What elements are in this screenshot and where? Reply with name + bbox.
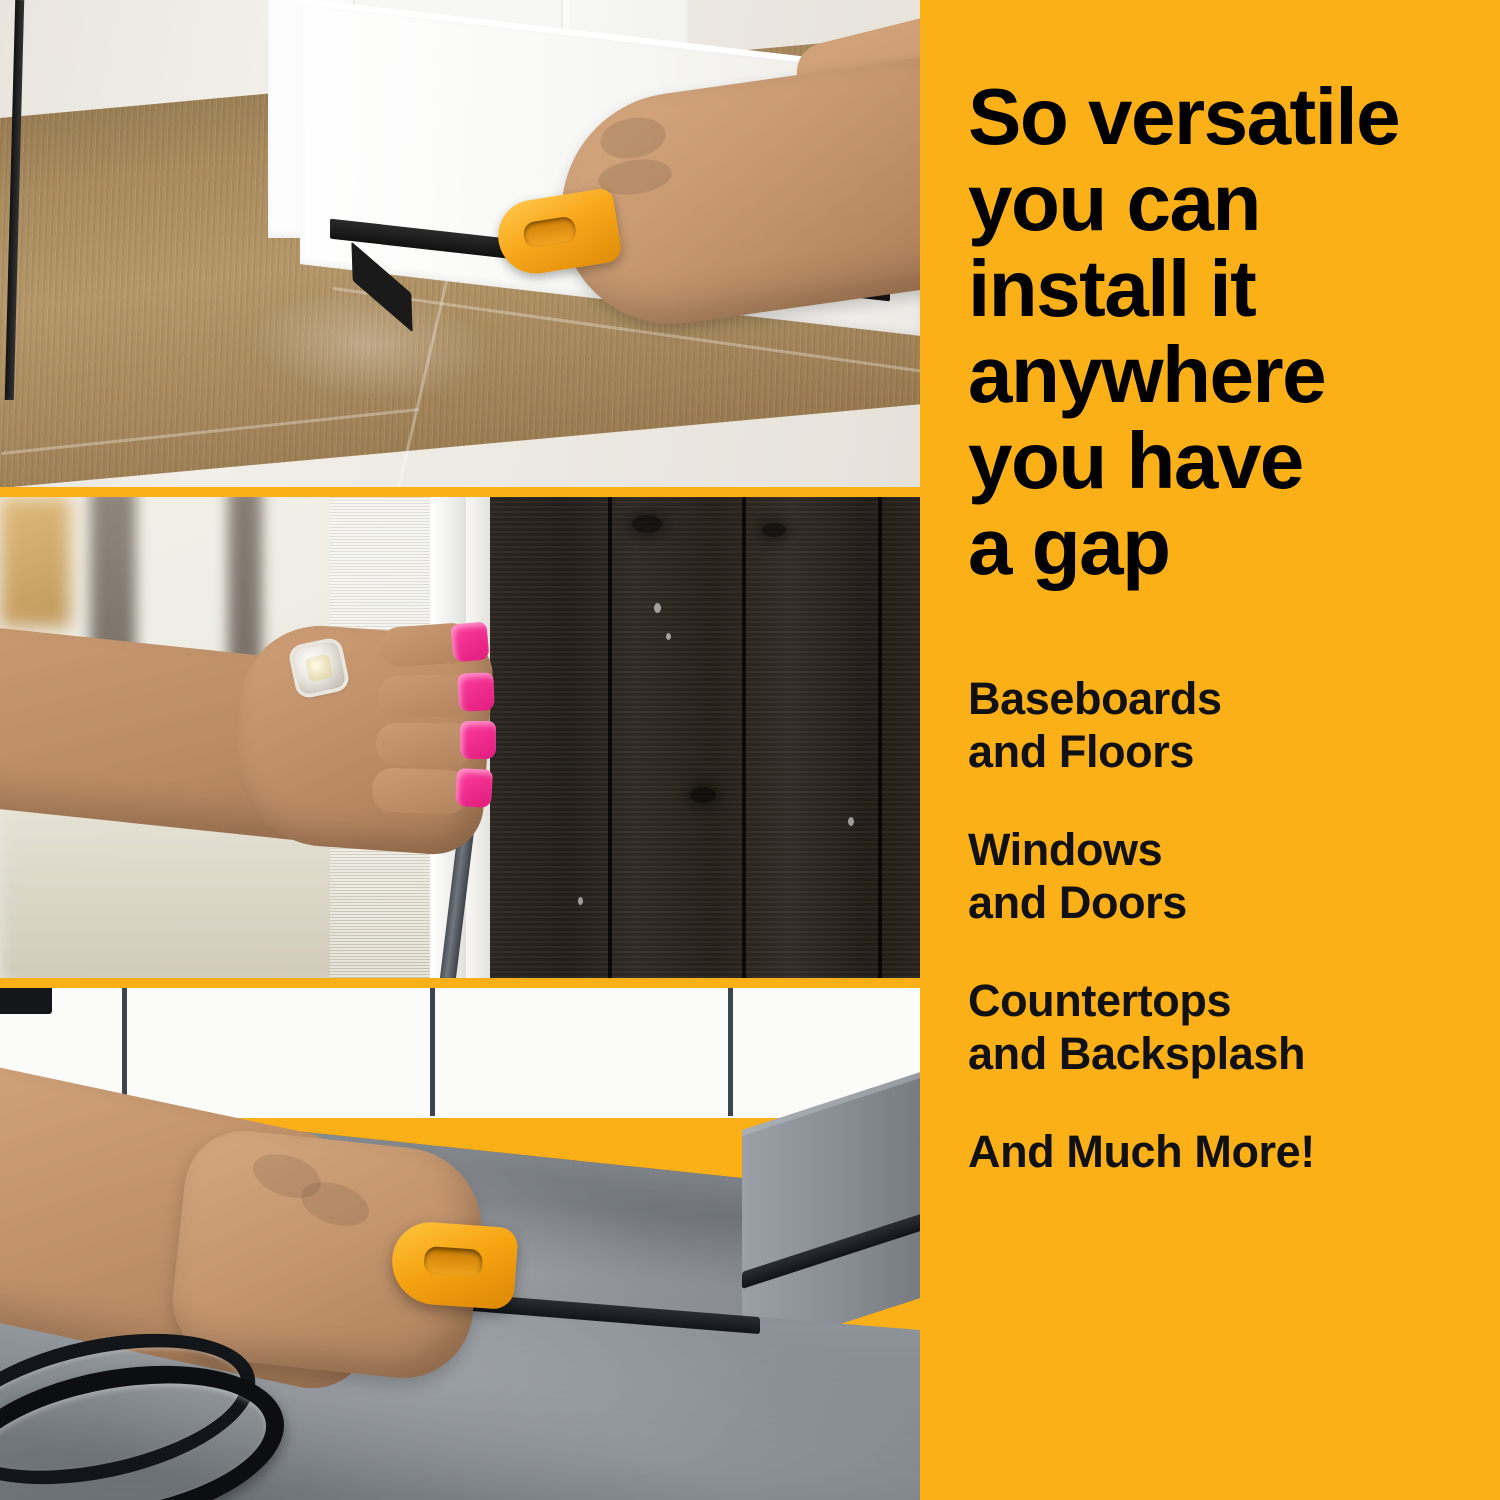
dark-wood-siding bbox=[490, 497, 920, 978]
benefit-item-baseboards-and-floors: Baseboards and Floors bbox=[968, 672, 1488, 778]
tile-grout-line bbox=[430, 988, 435, 1116]
tile-grout-line bbox=[728, 988, 733, 1116]
plank-seam bbox=[742, 497, 746, 978]
photo-column bbox=[0, 0, 920, 1500]
panel-divider bbox=[0, 487, 920, 497]
plank-seam bbox=[608, 497, 612, 978]
pink-fingernail bbox=[457, 672, 494, 711]
diamond-ring bbox=[292, 641, 347, 696]
pink-fingernail bbox=[455, 768, 493, 808]
photo-window-door-install bbox=[0, 497, 920, 978]
wood-knot bbox=[762, 523, 786, 537]
finger bbox=[371, 767, 468, 814]
benefit-item-and-much-more: And Much More! bbox=[968, 1125, 1488, 1178]
plank-seam bbox=[878, 497, 882, 978]
dark-fixture bbox=[0, 988, 52, 1014]
blurred-light bbox=[0, 497, 70, 627]
pink-fingernail bbox=[460, 721, 496, 759]
benefit-item-windows-and-doors: Windows and Doors bbox=[968, 823, 1488, 929]
benefit-item-countertops-and-backsplash: Countertops and Backsplash bbox=[968, 974, 1488, 1080]
photo-countertop-backsplash-install bbox=[0, 988, 920, 1500]
wood-knot bbox=[690, 787, 716, 803]
panel-divider bbox=[0, 978, 920, 988]
paint-fleck bbox=[578, 897, 583, 905]
paint-fleck bbox=[848, 817, 854, 826]
product-feature-graphic: So versatile you can install it anywhere… bbox=[0, 0, 1500, 1500]
benefit-list: Baseboards and Floors Windows and Doors … bbox=[968, 672, 1488, 1178]
paint-fleck bbox=[654, 603, 661, 613]
paint-fleck bbox=[666, 633, 671, 640]
wood-knot bbox=[632, 515, 662, 533]
floor-reflection bbox=[246, 280, 495, 410]
photo-baseboard-floor-install bbox=[0, 0, 920, 487]
headline: So versatile you can install it anywhere… bbox=[968, 74, 1488, 590]
text-column: So versatile you can install it anywhere… bbox=[920, 0, 1500, 1500]
pink-fingernail bbox=[450, 622, 489, 663]
right-backsplash-return bbox=[742, 1078, 920, 1356]
